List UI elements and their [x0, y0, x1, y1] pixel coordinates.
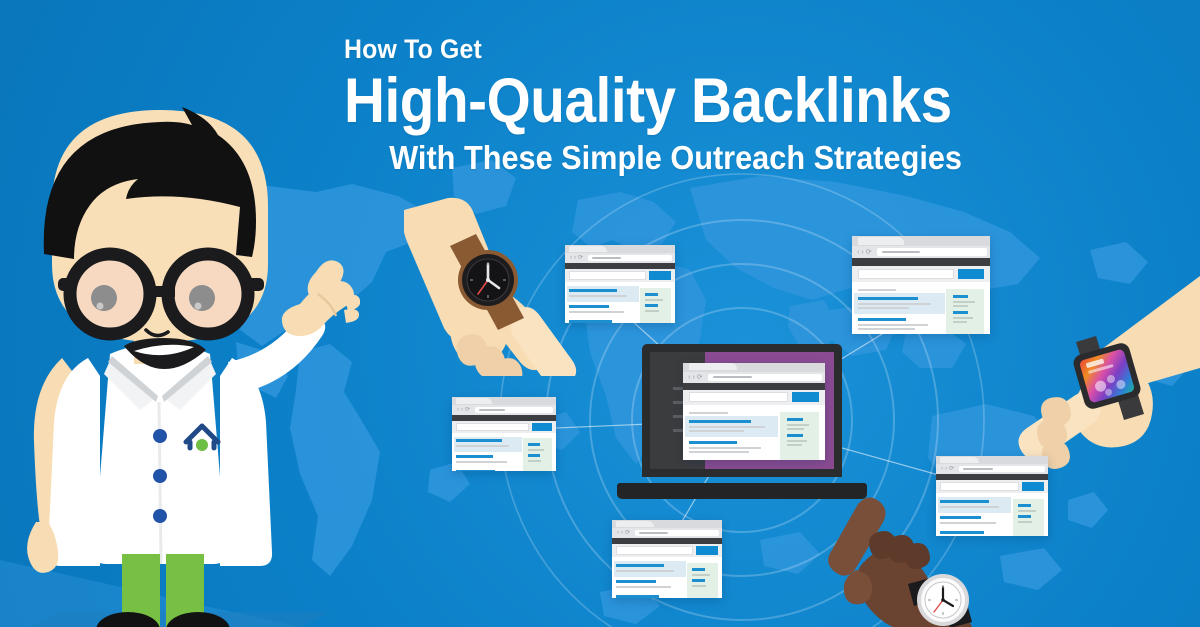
- nav-forward-icon[interactable]: ›: [574, 255, 576, 261]
- title-kicker: How To Get: [344, 36, 933, 63]
- url-input[interactable]: [877, 248, 987, 256]
- results-sidebar: [946, 289, 984, 334]
- result-item[interactable]: [614, 561, 686, 576]
- nav-back-icon[interactable]: ‹: [941, 466, 943, 472]
- nav-forward-icon[interactable]: ›: [945, 466, 947, 472]
- nav-back-icon[interactable]: ‹: [688, 374, 690, 381]
- result-item[interactable]: [685, 416, 778, 437]
- url-input[interactable]: [959, 466, 1045, 472]
- scientist-character: [0, 58, 360, 627]
- search-input[interactable]: [858, 269, 955, 279]
- search-input[interactable]: [689, 392, 788, 401]
- search-button[interactable]: [649, 271, 670, 279]
- search-input[interactable]: [456, 423, 529, 430]
- search-bar[interactable]: [452, 421, 556, 433]
- result-item[interactable]: [940, 531, 1008, 536]
- search-results-body: [565, 282, 675, 323]
- search-results-body: [936, 493, 1048, 536]
- result-item[interactable]: [858, 318, 942, 332]
- browser-window-bottom-left[interactable]: ‹ › ⟳: [612, 520, 722, 598]
- url-input[interactable]: [635, 530, 719, 536]
- nav-back-icon[interactable]: ‹: [857, 249, 859, 256]
- search-button[interactable]: [1022, 482, 1044, 490]
- search-bar[interactable]: [852, 266, 990, 282]
- search-results-body: [612, 557, 722, 598]
- laptop-base: [617, 483, 867, 499]
- result-item[interactable]: [854, 293, 945, 314]
- character-presenting-hand: [282, 260, 360, 336]
- coat-button: [153, 429, 167, 443]
- nav-forward-icon[interactable]: ›: [621, 530, 623, 536]
- coat-button: [153, 469, 167, 483]
- nav-back-icon[interactable]: ‹: [570, 255, 572, 261]
- search-input[interactable]: [616, 546, 693, 554]
- results-column: [940, 499, 1008, 536]
- result-item[interactable]: [569, 320, 636, 323]
- title-subtitle: With These Simple Outreach Strategies: [387, 141, 962, 174]
- search-button[interactable]: [792, 392, 819, 401]
- browser-dark-strip: [852, 258, 990, 266]
- nav-back-icon[interactable]: ‹: [457, 407, 459, 413]
- hand-right: [984, 272, 1200, 472]
- browser-dark-strip: [683, 383, 825, 390]
- results-sidebar: [1013, 499, 1044, 536]
- search-button[interactable]: [696, 546, 717, 554]
- browser-window-laptop[interactable]: ‹ › ⟳: [683, 363, 825, 460]
- results-sidebar: [687, 563, 717, 599]
- browser-tab[interactable]: [456, 398, 491, 404]
- search-results-body: [852, 282, 990, 334]
- result-item[interactable]: [456, 470, 519, 471]
- browser-tabbar[interactable]: [683, 363, 825, 372]
- search-input[interactable]: [569, 271, 646, 279]
- nav-reload-icon[interactable]: ⟳: [949, 466, 954, 472]
- browser-window-mid-left[interactable]: ‹ › ⟳: [452, 397, 556, 471]
- search-bar[interactable]: [683, 390, 825, 405]
- result-item[interactable]: [567, 286, 639, 301]
- title-main: High-Quality Backlinks: [344, 69, 920, 133]
- browser-window-top-right[interactable]: ‹ › ⟳: [852, 236, 990, 334]
- browser-navbar[interactable]: ‹ › ⟳: [683, 372, 825, 383]
- browser-window-top-left[interactable]: ‹ › ⟳: [565, 245, 675, 323]
- browser-tab[interactable]: [616, 521, 653, 527]
- search-button[interactable]: [532, 423, 552, 430]
- url-input[interactable]: [588, 255, 672, 261]
- laptop-screen: ‹ › ⟳: [650, 352, 834, 469]
- result-item[interactable]: [616, 595, 683, 598]
- poster-canvas: How To Get High-Quality Backlinks With T…: [0, 0, 1200, 627]
- search-bar[interactable]: [936, 480, 1048, 493]
- results-sidebar: [640, 288, 670, 324]
- results-column: [689, 412, 775, 460]
- page-title: How To Get High-Quality Backlinks With T…: [344, 36, 984, 174]
- url-input[interactable]: [708, 374, 822, 381]
- result-item[interactable]: [938, 497, 1011, 512]
- nav-reload-icon[interactable]: ⟳: [697, 374, 703, 381]
- search-results-body: [452, 433, 556, 471]
- browser-tab[interactable]: [569, 246, 606, 252]
- nav-reload-icon[interactable]: ⟳: [866, 249, 872, 256]
- coat-button: [153, 509, 167, 523]
- browser-tab[interactable]: [940, 457, 978, 463]
- laptop-lid: ‹ › ⟳: [642, 344, 842, 477]
- result-item[interactable]: [616, 580, 683, 590]
- laptop-device: ‹ › ⟳: [617, 344, 867, 499]
- results-column: [456, 438, 519, 471]
- search-bar[interactable]: [565, 269, 675, 282]
- search-button[interactable]: [958, 269, 985, 279]
- result-item[interactable]: [940, 516, 1008, 526]
- result-item[interactable]: [456, 455, 519, 465]
- results-column: [569, 288, 636, 324]
- result-item[interactable]: [454, 437, 522, 452]
- nav-reload-icon[interactable]: ⟳: [465, 407, 470, 413]
- search-results-body: [683, 405, 825, 460]
- nav-back-icon[interactable]: ‹: [617, 530, 619, 536]
- result-item[interactable]: [689, 441, 775, 455]
- browser-tab[interactable]: [689, 363, 737, 370]
- nav-forward-icon[interactable]: ›: [692, 374, 694, 381]
- url-input[interactable]: [475, 407, 553, 413]
- browser-tab[interactable]: [858, 237, 905, 245]
- nav-reload-icon[interactable]: ⟳: [578, 255, 583, 261]
- results-sidebar: [523, 438, 552, 471]
- browser-window-bottom-right[interactable]: ‹ › ⟳: [936, 456, 1048, 536]
- nav-forward-icon[interactable]: ›: [861, 249, 863, 256]
- nav-reload-icon[interactable]: ⟳: [625, 530, 630, 536]
- nav-forward-icon[interactable]: ›: [461, 407, 463, 413]
- result-item[interactable]: [569, 305, 636, 315]
- results-column: [858, 289, 942, 334]
- search-bar[interactable]: [612, 544, 722, 557]
- results-column: [616, 563, 683, 599]
- search-input[interactable]: [940, 482, 1018, 490]
- results-sidebar: [780, 412, 819, 460]
